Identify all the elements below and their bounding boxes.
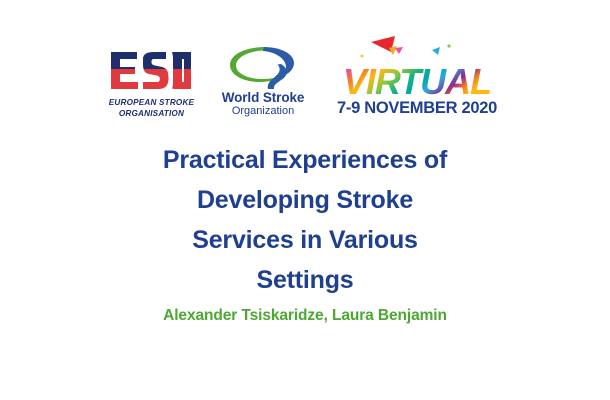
authors-line: Alexander Tsiskaridze, Laura Benjamin bbox=[55, 306, 555, 325]
eso-subtitle-line1: EUROPEAN STROKE bbox=[108, 97, 193, 108]
virtual-date: 7-9 NOVEMBER 2020 bbox=[337, 99, 497, 118]
eso-subtitle-line2: ORGANISATION bbox=[108, 108, 193, 119]
svg-text:VIRTUAL: VIRTUAL bbox=[343, 64, 491, 100]
wso-logo: World Stroke Organization bbox=[215, 34, 311, 118]
logo-band: EUROPEAN STROKE ORGANISATION World Strok… bbox=[0, 26, 610, 118]
title-line-4: Settings bbox=[55, 260, 555, 300]
wso-name: World Stroke bbox=[222, 90, 305, 105]
title-line-1: Practical Experiences of bbox=[55, 140, 555, 180]
wso-subtitle: Organization bbox=[232, 105, 294, 118]
presentation-slide: EUROPEAN STROKE ORGANISATION World Strok… bbox=[0, 0, 610, 400]
title-line-2: Developing Stroke bbox=[55, 180, 555, 220]
wso-swoosh-icon bbox=[226, 42, 300, 90]
virtual-decoration-icon bbox=[329, 32, 505, 66]
page-title: Practical Experiences of Developing Stro… bbox=[55, 140, 555, 300]
eso-logo: EUROPEAN STROKE ORGANISATION bbox=[105, 34, 197, 118]
virtual-wordmark-icon: VIRTUAL bbox=[331, 64, 503, 100]
eso-subtitle: EUROPEAN STROKE ORGANISATION bbox=[108, 97, 193, 118]
virtual-logo: VIRTUAL 7-9 NOVEMBER 2020 bbox=[329, 32, 505, 118]
title-line-3: Services in Various bbox=[55, 220, 555, 260]
eso-logomark-icon bbox=[107, 48, 195, 96]
title-block: Practical Experiences of Developing Stro… bbox=[55, 140, 555, 325]
